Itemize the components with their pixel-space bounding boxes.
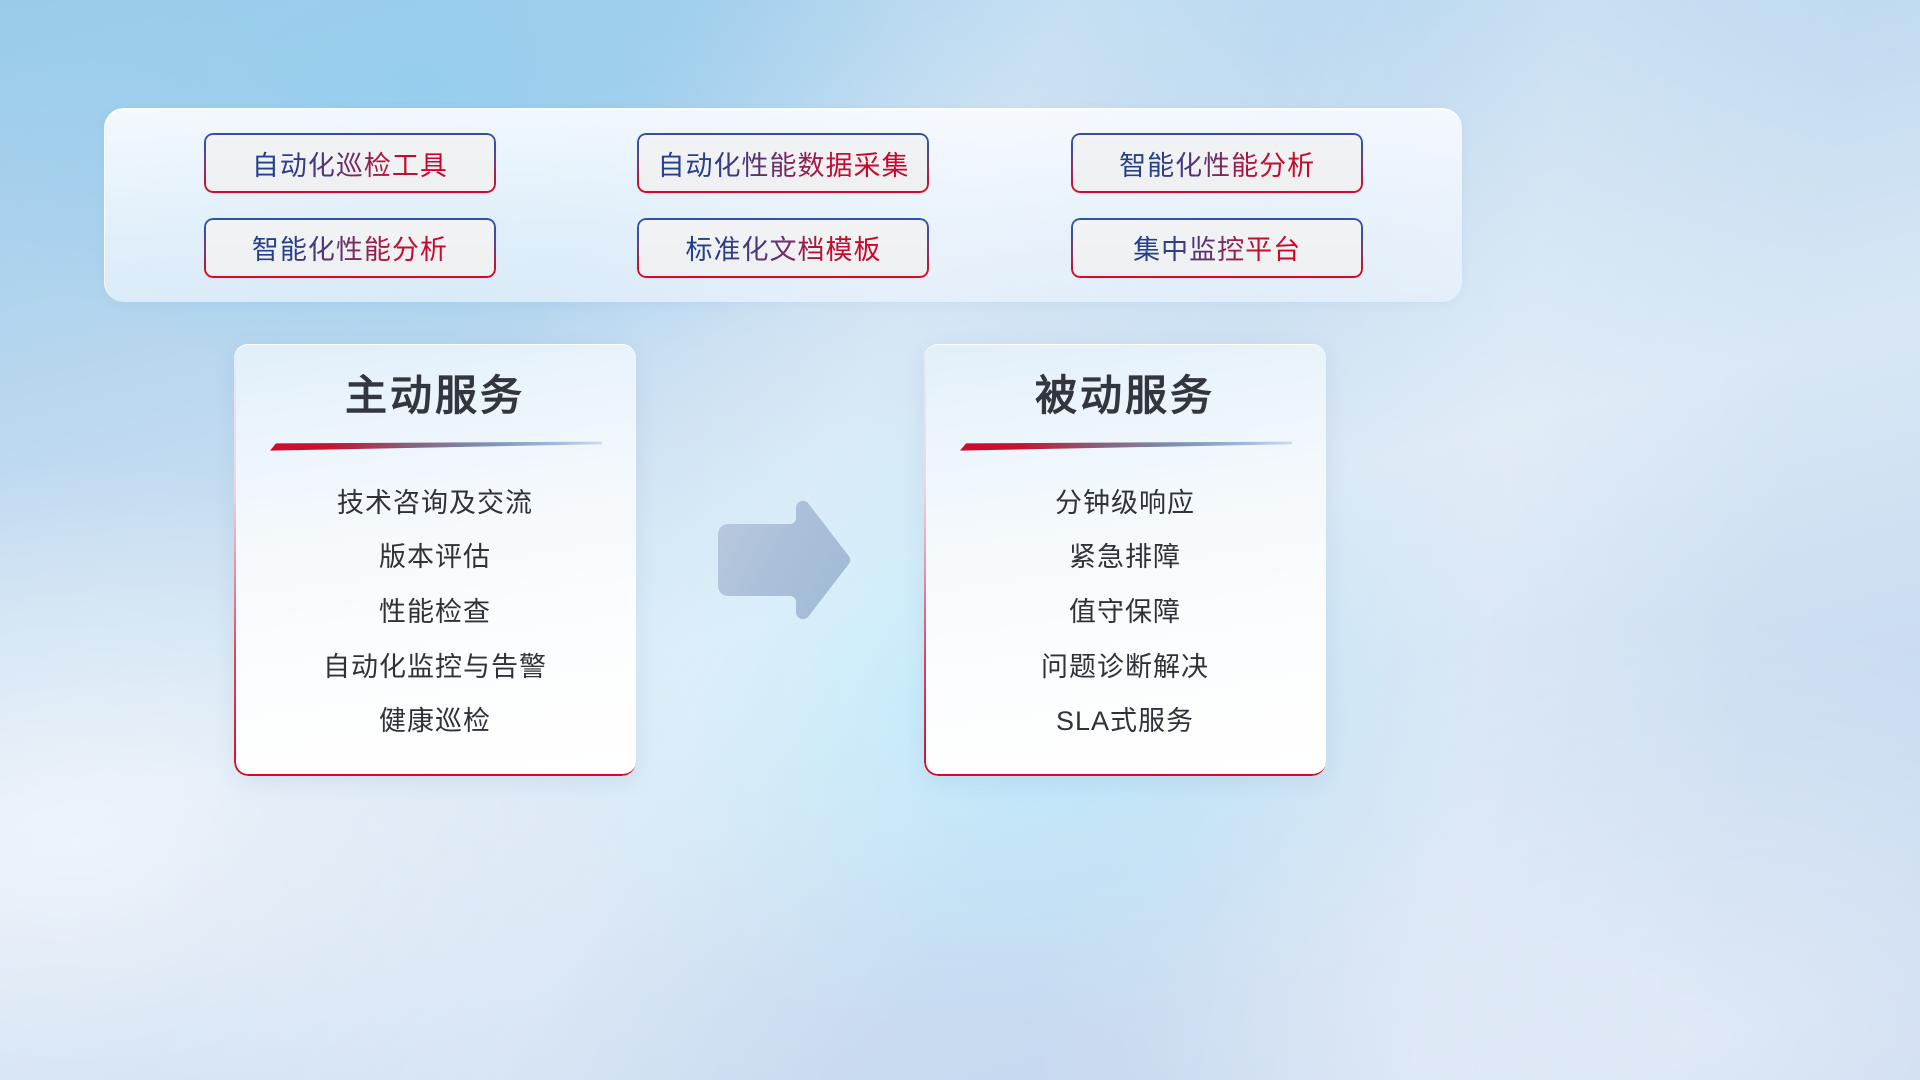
service-item: 自动化监控与告警 (268, 651, 602, 683)
capability-tags-panel: 自动化巡检工具 自动化性能数据采集 智能化性能分析 智能化性能分析 标准化文档模… (104, 108, 1462, 302)
slide-canvas: 自动化巡检工具 自动化性能数据采集 智能化性能分析 智能化性能分析 标准化文档模… (0, 0, 1920, 1080)
service-item: 健康巡检 (268, 705, 602, 737)
capability-tag-label: 自动化巡检工具 (252, 144, 448, 183)
service-item: 版本评估 (268, 541, 602, 573)
service-item: 问题诊断解决 (958, 651, 1292, 683)
capability-tag-label: 智能化性能分析 (1119, 144, 1315, 183)
service-item: 值守保障 (958, 596, 1292, 628)
capability-tag[interactable]: 自动化性能数据采集 (637, 133, 929, 193)
service-item: SLA式服务 (958, 705, 1292, 737)
service-item-list: 分钟级响应 紧急排障 值守保障 问题诊断解决 SLA式服务 (958, 459, 1292, 777)
service-item: 技术咨询及交流 (268, 487, 602, 519)
card-title: 主动服务 (268, 370, 602, 423)
service-item: 性能检查 (268, 596, 602, 628)
service-item: 紧急排障 (958, 541, 1292, 573)
capability-tag[interactable]: 标准化文档模板 (637, 218, 929, 278)
service-item: 分钟级响应 (958, 487, 1292, 519)
capability-tag[interactable]: 集中监控平台 (1071, 218, 1363, 278)
capability-tag-label: 智能化性能分析 (252, 228, 448, 267)
card-title: 被动服务 (958, 370, 1292, 423)
service-item-list: 技术咨询及交流 版本评估 性能检查 自动化监控与告警 健康巡检 (268, 459, 602, 777)
capability-tag-label: 集中监控平台 (1133, 228, 1301, 267)
capability-tag-label: 标准化文档模板 (685, 228, 881, 267)
title-underline-rule (958, 441, 1292, 453)
capability-tag[interactable]: 智能化性能分析 (1071, 133, 1363, 193)
service-card-reactive[interactable]: 被动服务 (924, 344, 1326, 776)
flow-arrow (712, 500, 852, 620)
capability-tag-label: 自动化性能数据采集 (657, 144, 909, 183)
service-card-proactive[interactable]: 主动服务 (234, 344, 636, 776)
capability-tag[interactable]: 智能化性能分析 (204, 218, 496, 278)
capability-tag[interactable]: 自动化巡检工具 (204, 133, 496, 193)
title-underline-rule (268, 441, 602, 453)
